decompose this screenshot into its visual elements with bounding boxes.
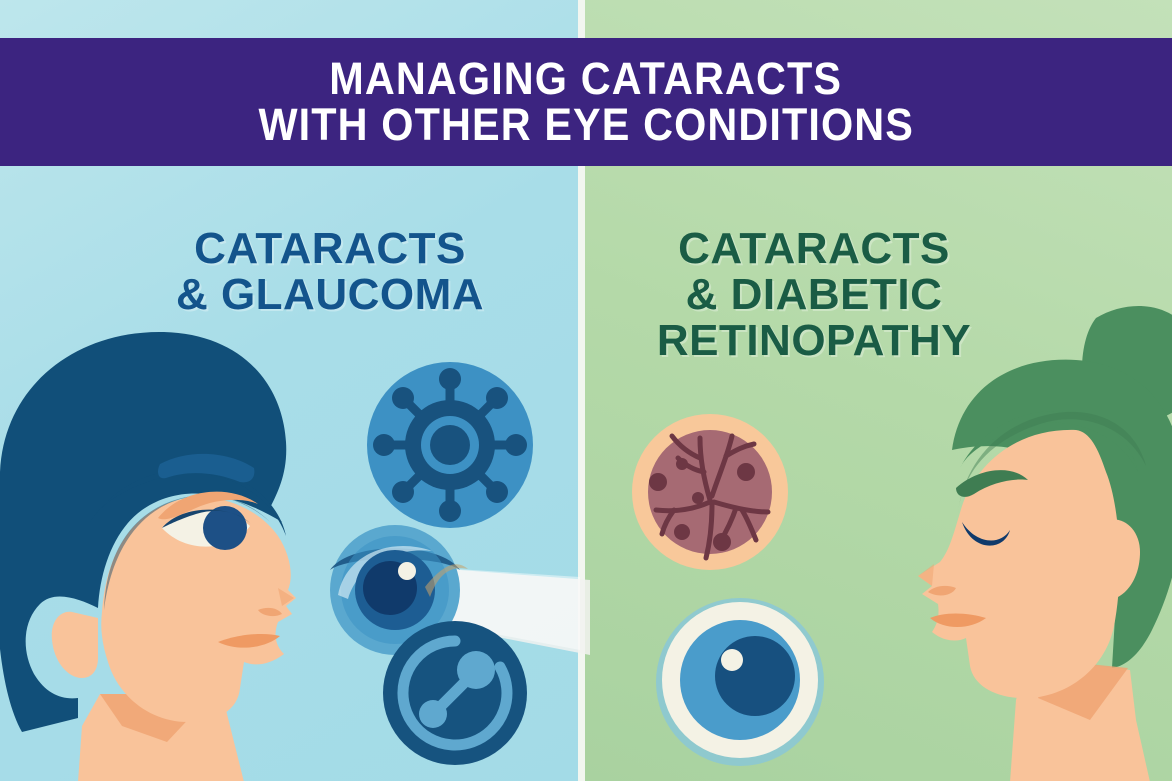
infographic-canvas: Cataracts & Glaucoma Cataracts & Diabeti…	[0, 0, 1172, 781]
title-banner: Managing Cataracts With Other Eye Condit…	[0, 38, 1172, 166]
person-illustration-left	[0, 322, 342, 781]
intraocular-pressure-icon[interactable]	[367, 362, 533, 528]
optic-nerve-icon[interactable]	[383, 621, 527, 765]
person-illustration-right	[900, 300, 1172, 781]
face-left-svg	[0, 322, 342, 781]
retina-fundus-icon[interactable]	[632, 414, 788, 570]
icon-cluster-left	[300, 355, 610, 775]
banner-title-line2: With Other Eye Conditions	[258, 102, 914, 148]
heading-right: Cataracts & Diabetic Retinopathy	[604, 226, 1024, 365]
heading-right-line1: Cataracts	[604, 226, 1024, 272]
heading-left-line2: & Glaucoma	[120, 272, 540, 318]
heading-right-line3: Retinopathy	[604, 318, 1024, 364]
nose-shadow-right	[918, 564, 934, 586]
icon-cluster-right	[612, 410, 912, 781]
banner-title-line1: Managing Cataracts	[330, 56, 843, 102]
heading-right-line2: & Diabetic	[604, 272, 1024, 318]
ear-left	[52, 612, 98, 678]
heading-left-line1: Cataracts	[120, 226, 540, 272]
iris-left	[203, 506, 247, 550]
face-right-svg	[900, 300, 1172, 781]
heading-left: Cataracts & Glaucoma	[120, 226, 540, 318]
icons-left-svg	[300, 355, 610, 775]
icons-right-svg	[612, 410, 912, 781]
cataract-eye-icon[interactable]	[656, 598, 824, 766]
